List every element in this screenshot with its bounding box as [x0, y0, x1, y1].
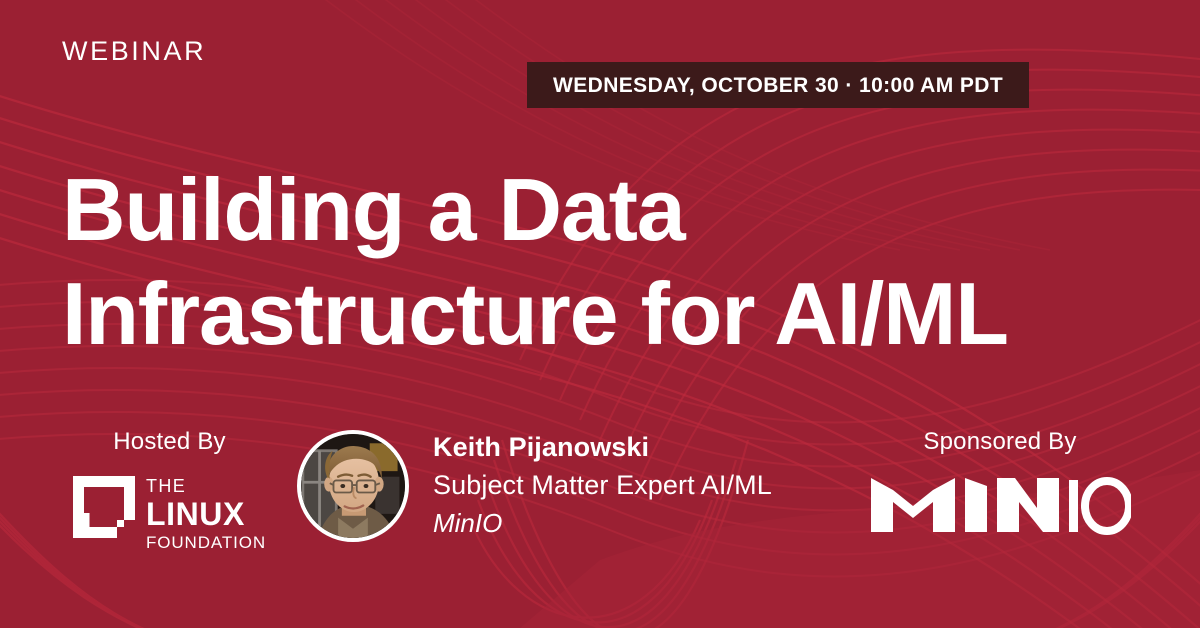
sponsored-by-block: Sponsored By: [860, 430, 1140, 538]
speaker-name: Keith Pijanowski: [433, 434, 772, 461]
linux-foundation-mark: [73, 476, 135, 538]
headline-line-2: Infrastructure for AI/ML: [62, 262, 1152, 366]
speaker-organization: MinIO: [433, 510, 772, 536]
hosted-by-block: Hosted By THE LINUX FOUNDATION: [62, 430, 277, 551]
headline-line-1: Building a Data: [62, 158, 1152, 262]
speaker-role: Subject Matter Expert AI/ML: [433, 472, 772, 499]
date-time-badge: WEDNESDAY, OCTOBER 30 · 10:00 AM PDT: [527, 62, 1029, 108]
sponsored-by-label: Sponsored By: [860, 430, 1140, 454]
hosted-by-label: Hosted By: [62, 430, 277, 454]
page-title: Building a Data Infrastructure for AI/ML: [62, 158, 1152, 366]
eyebrow-label: WEBINAR: [62, 38, 206, 65]
lf-linux-text: LINUX: [146, 498, 266, 530]
speaker-block: Keith Pijanowski Subject Matter Expert A…: [297, 430, 772, 542]
date-time-text: WEDNESDAY, OCTOBER 30 · 10:00 AM PDT: [553, 75, 1003, 96]
linux-foundation-logo: THE LINUX FOUNDATION: [62, 476, 277, 551]
minio-wordmark: [869, 472, 1131, 538]
lf-the-text: THE: [146, 477, 266, 495]
footer-row: Hosted By THE LINUX FOUNDATION: [0, 430, 1200, 560]
speaker-details: Keith Pijanowski Subject Matter Expert A…: [433, 434, 772, 538]
minio-logo: [860, 472, 1140, 538]
avatar: [297, 430, 409, 542]
linux-foundation-wordmark: THE LINUX FOUNDATION: [146, 476, 266, 551]
webinar-banner: WEBINAR WEDNESDAY, OCTOBER 30 · 10:00 AM…: [0, 0, 1200, 628]
lf-foundation-text: FOUNDATION: [146, 534, 266, 551]
